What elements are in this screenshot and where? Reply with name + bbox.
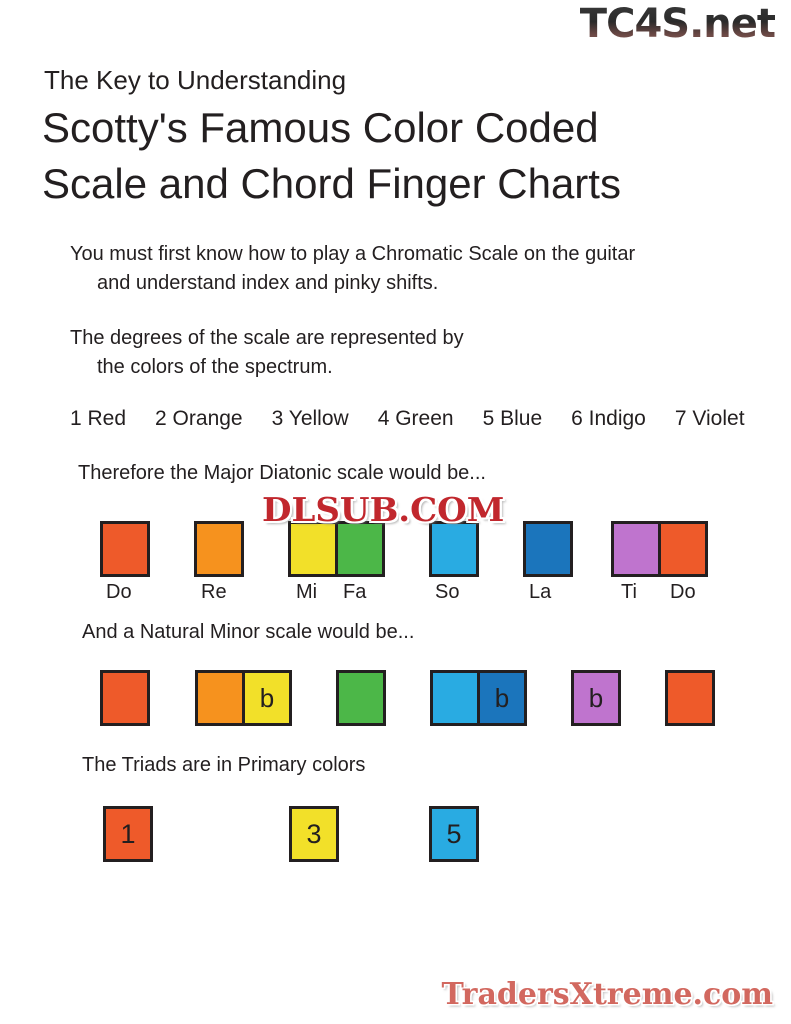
spectrum-degree-7: 7 Violet [675,407,745,431]
major_scale-swatch-group [523,521,573,577]
major-scale-label: So [435,581,459,604]
major_scale-swatch-cell [614,524,658,574]
major_scale-swatch-group [194,521,244,577]
intro-paragraph-2-line-1: The degrees of the scale are represented… [70,324,464,353]
minor_scale-swatch-group [665,670,715,726]
minor_scale-swatch-cell: b [574,673,618,723]
intro-paragraph-1-line-2: and understand index and pinky shifts. [97,269,438,298]
spectrum-degree-6: 6 Indigo [571,407,646,431]
spectrum-degree-4: 4 Green [378,407,454,431]
major_scale-swatch-group [100,521,150,577]
document-page: TC4S.net The Key to Understanding Scotty… [0,0,791,1024]
minor_scale-swatch-group: b [571,670,621,726]
triads-swatch-group: 1 [103,806,153,862]
triads-caption: The Triads are in Primary colors [82,754,365,777]
major_scale-swatch-group [611,521,708,577]
triads-swatch-cell: 5 [432,809,476,859]
major-scale-label: Do [106,581,132,604]
triads-swatch-cell: 3 [292,809,336,859]
tradersxtreme-watermark: TradersXtreme.com [442,977,773,1012]
major_scale-swatch-cell [291,524,335,574]
triads-swatch-group: 3 [289,806,339,862]
major-scale-caption: Therefore the Major Diatonic scale would… [78,462,486,485]
major-scale-label: Do [670,581,696,604]
minor_scale-swatch-group [336,670,386,726]
major-scale-label: Re [201,581,227,604]
major_scale-swatch-cell [103,524,147,574]
spectrum-degree-2: 2 Orange [155,407,243,431]
minor-scale-caption: And a Natural Minor scale would be... [82,621,414,644]
minor_scale-swatch-group [100,670,150,726]
major_scale-swatch-cell [432,524,476,574]
minor_scale-swatch-cell [433,673,477,723]
intro-paragraph-2-line-2: the colors of the spectrum. [97,353,333,382]
triads-swatch-cell: 1 [106,809,150,859]
minor_scale-swatch-cell: b [245,673,289,723]
minor_scale-swatch-group: b [195,670,292,726]
minor_scale-swatch-cell [339,673,383,723]
major_scale-swatch-cell [197,524,241,574]
spectrum-legend: 1 Red2 Orange3 Yellow4 Green5 Blue6 Indi… [70,407,745,431]
major_scale-swatch-cell [661,524,705,574]
intro-paragraph-1-line-1: You must first know how to play a Chroma… [70,240,635,269]
minor_scale-swatch-cell [668,673,712,723]
minor_scale-swatch-cell [198,673,242,723]
major_scale-swatch-group [288,521,385,577]
page-title-line-2: Scale and Chord Finger Charts [42,160,621,208]
major-scale-label: La [529,581,551,604]
kicker-text: The Key to Understanding [44,65,346,96]
major-scale-label: Ti [621,581,637,604]
major_scale-swatch-cell [338,524,382,574]
page-title-line-1: Scotty's Famous Color Coded [42,104,599,152]
minor_scale-swatch-group: b [430,670,527,726]
major-scale-label: Fa [343,581,366,604]
triads-swatch-group: 5 [429,806,479,862]
minor_scale-swatch-cell: b [480,673,524,723]
spectrum-degree-3: 3 Yellow [272,407,349,431]
major-scale-label: Mi [296,581,317,604]
major_scale-swatch-group [429,521,479,577]
tc4s-logo: TC4S.net [580,2,775,46]
major_scale-swatch-cell [526,524,570,574]
spectrum-degree-1: 1 Red [70,407,126,431]
minor_scale-swatch-cell [103,673,147,723]
spectrum-degree-5: 5 Blue [483,407,543,431]
